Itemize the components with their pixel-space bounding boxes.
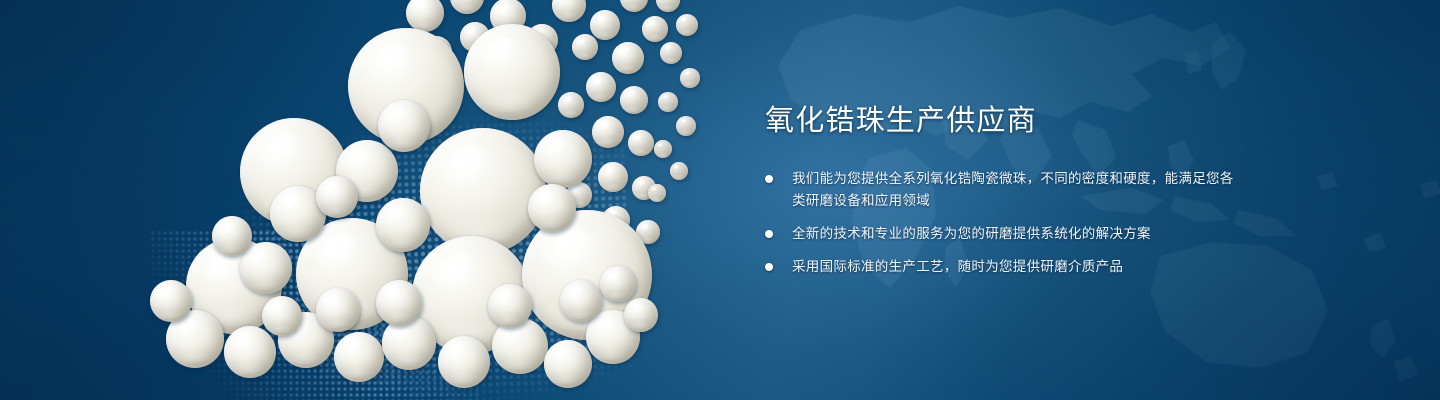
hero-banner: 氧化锆珠生产供应商 我们能为您提供全系列氧化锆陶瓷微珠，不同的密度和硬度，能满足… [0, 0, 1440, 400]
feature-text: 我们能为您提供全系列氧化锆陶瓷微珠，不同的密度和硬度，能满足您各类研磨设备和应用… [792, 171, 1234, 208]
feature-text: 采用国际标准的生产工艺，随时为您提供研磨介质产品 [792, 259, 1123, 274]
dot-icon [765, 263, 773, 271]
dot-icon [765, 230, 773, 238]
feature-list-item: 采用国际标准的生产工艺，随时为您提供研磨介质产品 [765, 256, 1235, 278]
feature-text: 全新的技术和专业的服务为您的研磨提供系统化的解决方案 [792, 226, 1151, 241]
banner-headline: 氧化锆珠生产供应商 [765, 104, 1235, 138]
feature-list-item: 我们能为您提供全系列氧化锆陶瓷微珠，不同的密度和硬度，能满足您各类研磨设备和应用… [765, 168, 1235, 212]
feature-list-item: 全新的技术和专业的服务为您的研磨提供系统化的解决方案 [765, 223, 1235, 245]
feature-list: 我们能为您提供全系列氧化锆陶瓷微珠，不同的密度和硬度，能满足您各类研磨设备和应用… [765, 168, 1235, 278]
banner-copy: 氧化锆珠生产供应商 我们能为您提供全系列氧化锆陶瓷微珠，不同的密度和硬度，能满足… [765, 104, 1235, 278]
zirconia-beads-photo [120, 0, 740, 400]
dot-icon [765, 175, 773, 183]
